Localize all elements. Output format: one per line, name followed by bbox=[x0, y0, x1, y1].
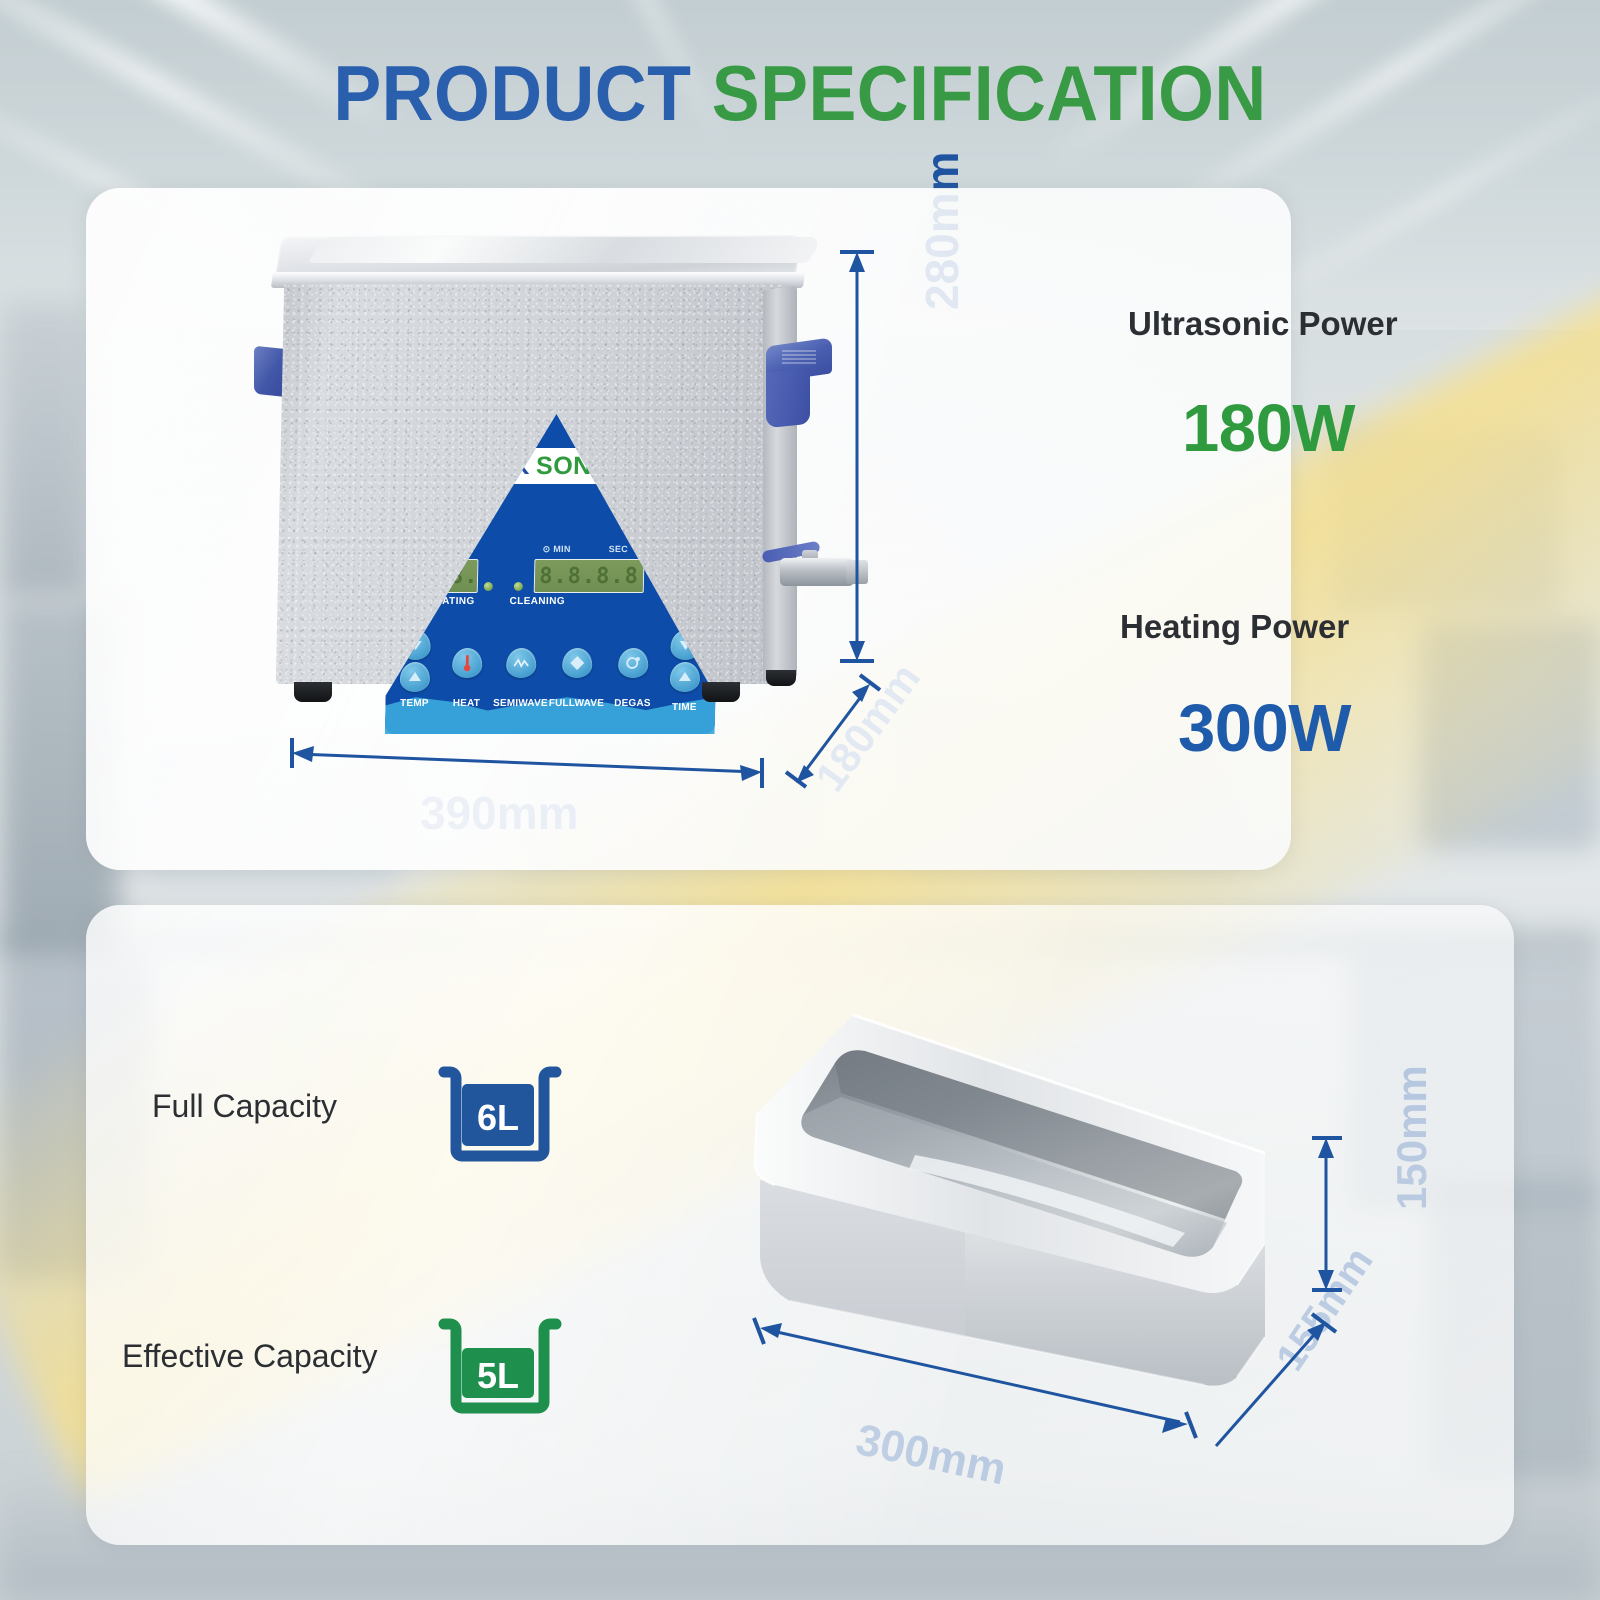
spec-label-heating-power: Heating Power bbox=[1120, 608, 1349, 646]
spec-value-ultrasonic-power: 180W bbox=[1182, 390, 1355, 467]
dimension-lines-unit bbox=[0, 0, 1600, 900]
dimension-lines-tank bbox=[0, 900, 1600, 1600]
spec-value-heating-power: 300W bbox=[1178, 690, 1351, 767]
spec-label-ultrasonic-power: Ultrasonic Power bbox=[1128, 305, 1398, 343]
